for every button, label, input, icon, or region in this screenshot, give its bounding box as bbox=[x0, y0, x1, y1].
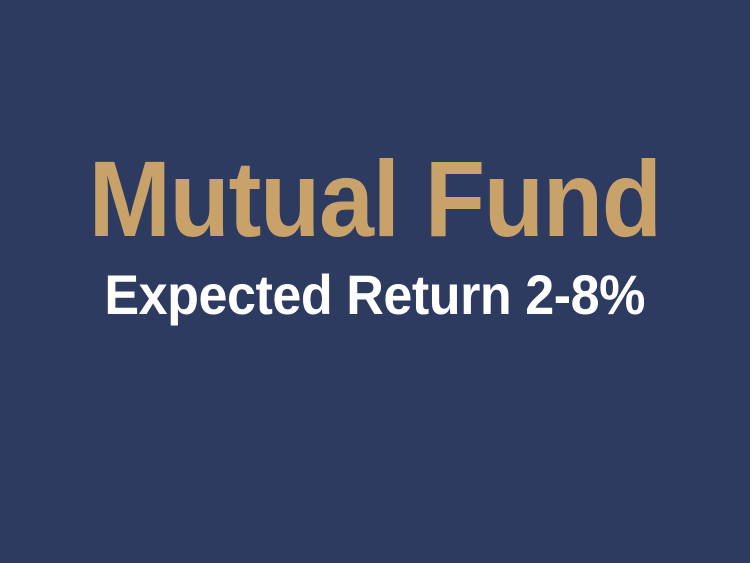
expected-return-subtitle: Expected Return 2-8% bbox=[105, 267, 646, 323]
mutual-fund-info-card: Mutual Fund Expected Return 2-8% bbox=[0, 0, 750, 563]
page-title: Mutual Fund bbox=[89, 145, 661, 253]
